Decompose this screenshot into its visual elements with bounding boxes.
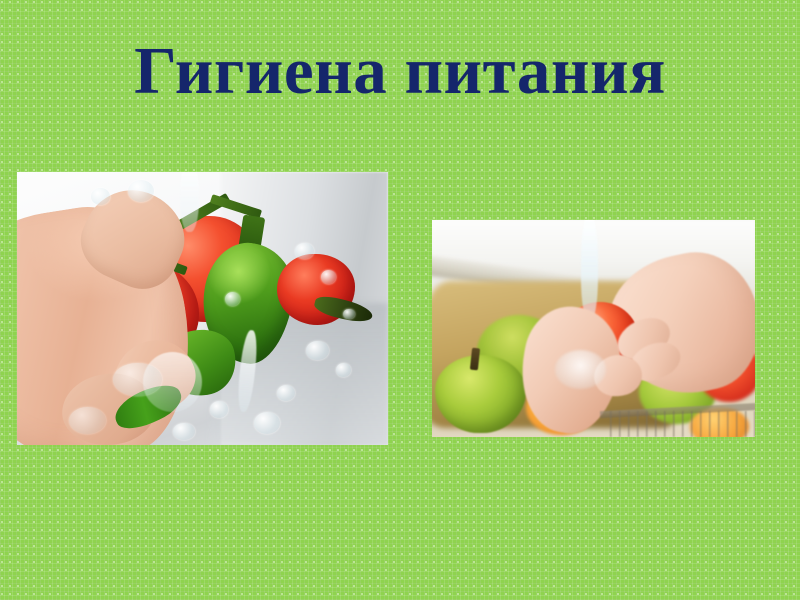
slide-canvas: Гигиена питания — [0, 0, 800, 600]
washing-vegetables-artwork — [17, 172, 388, 445]
water-droplet-12 — [113, 363, 161, 396]
water-droplet-14 — [343, 309, 354, 320]
water-droplet-6 — [336, 363, 351, 377]
water-droplet-1 — [91, 188, 110, 204]
water-droplet-10 — [173, 423, 195, 439]
washing-fruit-photo — [432, 220, 755, 437]
water-droplet-4 — [321, 270, 336, 284]
water-droplet-11 — [225, 292, 240, 306]
page-title: Гигиена питания — [0, 34, 800, 108]
water-droplet-3 — [295, 243, 314, 259]
water-droplet-13 — [69, 407, 106, 434]
water-stream-1 — [180, 172, 199, 232]
washing-fruit-artwork — [432, 220, 755, 437]
washing-vegetables-photo — [17, 172, 388, 445]
green-apple-front — [435, 355, 525, 433]
water-droplet-5 — [306, 341, 328, 360]
faucet-water-stream — [581, 220, 599, 320]
dish-rack — [610, 411, 755, 437]
water-droplet-9 — [210, 401, 229, 417]
